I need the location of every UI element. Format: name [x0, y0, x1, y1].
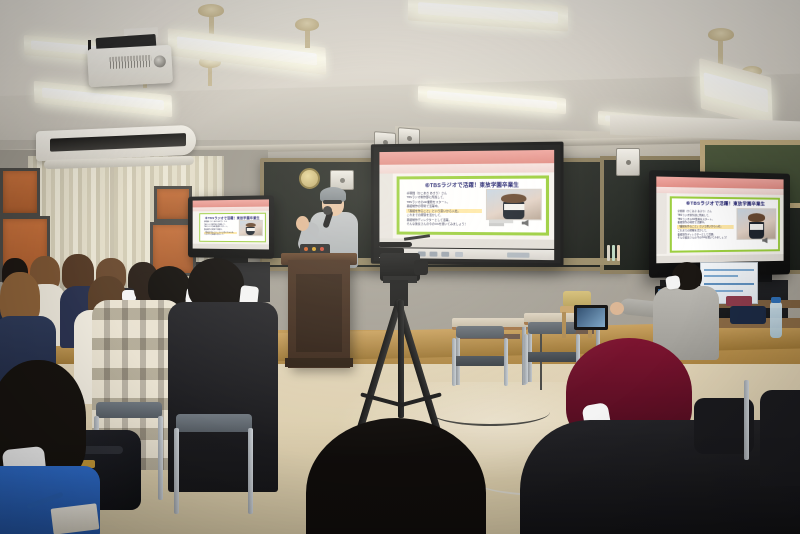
slide-mirror: ⑥TBSラジオで活躍！東放学園卒業生 卓朝輝（かこあき あきり）さん TBSラジ… [670, 196, 780, 252]
slide-mirror-left: ⑥TBSラジオで活躍！東放学園卒業生 卓朝輝（かこあき あきり）さん TBSラジ… [199, 213, 266, 243]
chair-leg [524, 334, 528, 384]
chair-leg [174, 428, 179, 514]
chair-leg [504, 338, 508, 386]
bottle-cap [771, 297, 781, 303]
chair-leg [452, 338, 456, 386]
folding-chair-back[interactable] [96, 402, 162, 418]
camera-lens [414, 260, 428, 275]
floor-cable [430, 398, 550, 426]
slide-title-mirror: ⑥TBSラジオで活躍！東放学園卒業生 [672, 200, 778, 207]
slide-body-mirror-left: 卓朝輝（かこあき あきり）さん TBSラジオ制作部に所属して、 TBSラジオのA… [204, 221, 237, 237]
folding-chair-seat[interactable] [452, 356, 506, 366]
bulletin-board [0, 168, 40, 216]
folding-chair-back[interactable] [176, 414, 252, 432]
camera-handle[interactable] [378, 242, 412, 247]
audience-torso-foreground [520, 420, 800, 534]
slide-body-line: そんな彼女さんの今のOAを聞いてみましょう！ [407, 222, 482, 227]
chalk-stick [612, 245, 615, 261]
microphone-head [323, 206, 332, 215]
folding-chair-back[interactable] [528, 322, 576, 334]
projection-screen-image: ⑥TBSラジオで活躍！東放学園卒業生 卓朝輝（かこあき あきり）さん TBSラジ… [379, 150, 554, 249]
left-preview-monitor: ⑥TBSラジオで活躍！東放学園卒業生 卓朝輝（かこあき あきり）さん TBSラジ… [188, 195, 274, 259]
slide: ⑥TBSラジオで活躍！東放学園卒業生 卓朝輝（かこあき あきり）さん TBSラジ… [397, 175, 549, 235]
ceiling-projector [87, 45, 173, 87]
slide-body-mirror: 卓朝輝（かこあき あきり）さん TBSラジオ制作部に所属して、 TBSラジオのA… [677, 210, 733, 240]
slide-photo [486, 188, 542, 220]
chalk-stick [607, 245, 610, 261]
wall-clock [299, 168, 320, 189]
speaker-icon [522, 219, 529, 226]
tripod-leg [398, 300, 404, 418]
folding-chair-back[interactable] [456, 326, 504, 338]
glasses-icon [323, 200, 342, 204]
water-bottle [770, 302, 782, 338]
technician-hand [610, 302, 624, 315]
lamp-cup [708, 28, 734, 41]
face-mask [665, 275, 681, 290]
audience-head [62, 254, 94, 290]
equipment-case [730, 306, 766, 324]
slide-photo-mirror-left [238, 220, 262, 236]
slide-photo-mirror [737, 208, 776, 239]
powerpoint-ribbon-row2 [379, 163, 554, 173]
audience-torso [760, 390, 800, 486]
podium-panel [296, 274, 342, 352]
podium-base [285, 358, 353, 367]
audience-torso [168, 302, 278, 492]
bulletin-board [154, 186, 192, 222]
chair-leg [158, 416, 163, 500]
equipment-box [726, 296, 752, 306]
camera-monitor[interactable] [574, 305, 608, 330]
chair-leg [248, 428, 253, 514]
stool-leg [562, 312, 566, 338]
lamp-cup [198, 4, 224, 17]
left-monitor-screen: ⑥TBSラジオで活躍！東放学園卒業生 卓朝輝（かこあき あきり）さん TBSラジ… [193, 199, 269, 249]
wall-speaker [616, 148, 640, 176]
classroom-presentation-photo: ⑥TBSラジオで活躍！東放学園卒業生 卓朝輝（かこあき あきり）さん TBSラジ… [0, 0, 800, 534]
slide-body: 卓朝輝（かこあき あきり）さん TBSラジオ制作部に所属して、 TBSラジオのA… [407, 191, 482, 227]
chalk-stick [617, 245, 620, 261]
folding-chair-seat[interactable] [524, 352, 578, 362]
right-monitor-screen: ⑥TBSラジオで活躍！東放学園卒業生 卓朝輝（かこあき あきり）さん TBSラジ… [656, 176, 783, 263]
lamp-cup [295, 18, 319, 31]
chair-leg [744, 380, 749, 460]
presenter-left-hand [296, 216, 309, 231]
notepad [51, 503, 100, 534]
slide-audio-progress[interactable] [489, 223, 504, 226]
powerpoint-slide-rail [379, 174, 392, 239]
